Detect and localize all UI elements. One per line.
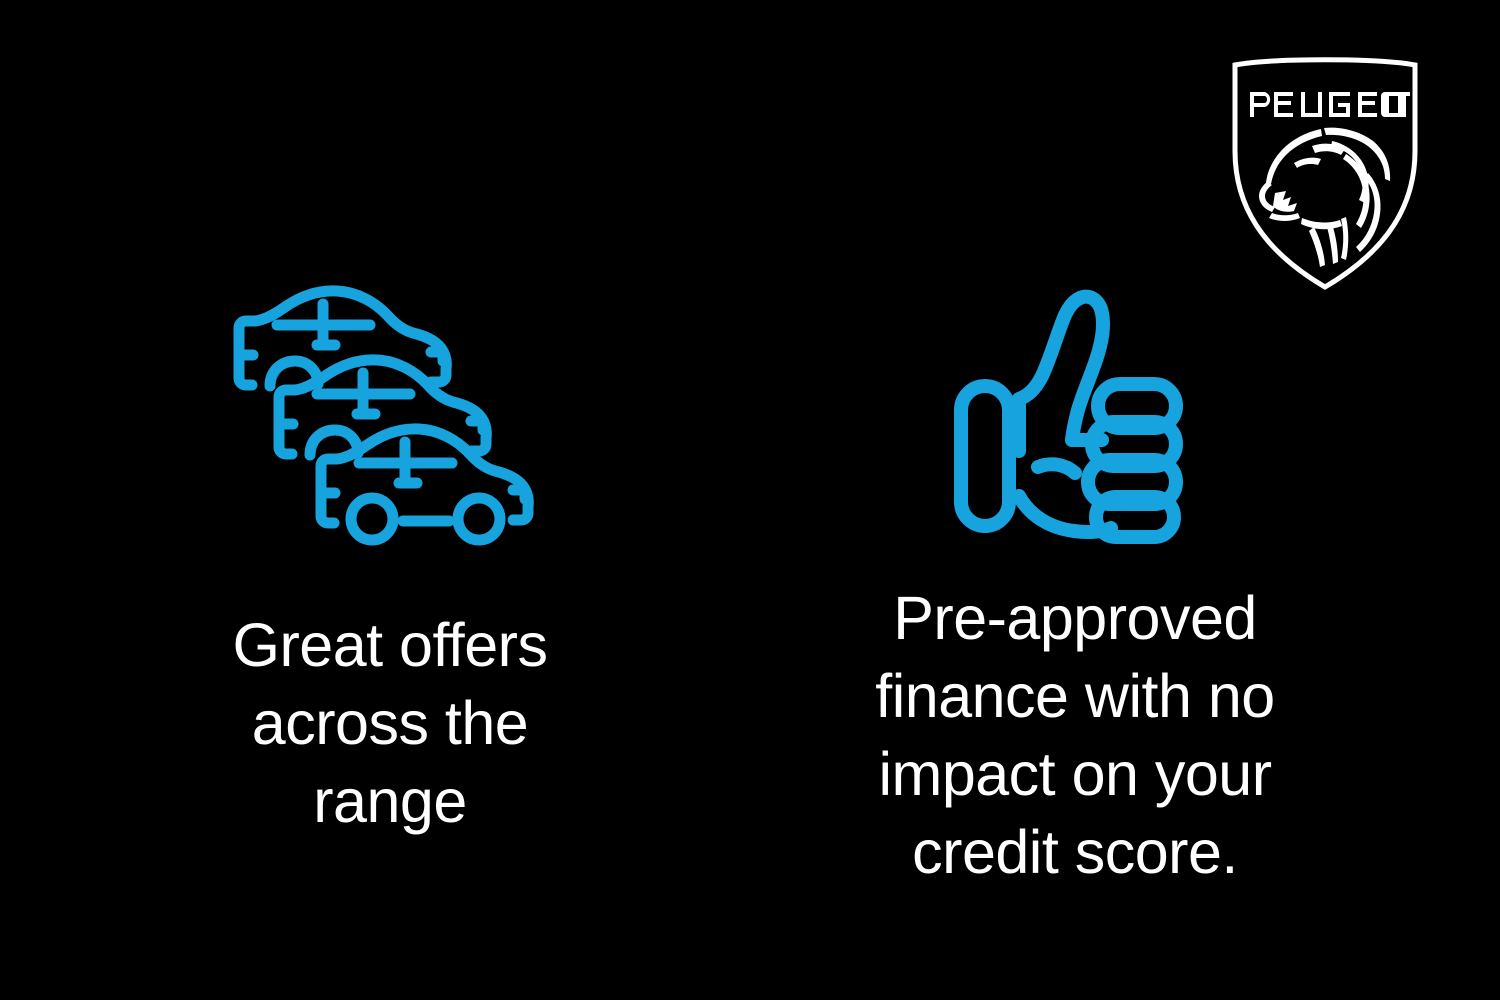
three-cars-icon: [225, 276, 555, 566]
feature-great-offers: Great offers across the range: [75, 276, 705, 840]
thumbs-up-icon: [950, 276, 1200, 551]
promo-banner: Great offers across the range: [0, 0, 1500, 1000]
feature-pre-approved-finance: Pre-approved finance with no impact on y…: [760, 276, 1390, 891]
feature-caption-great-offers: Great offers across the range: [233, 606, 548, 840]
feature-caption-pre-approved-finance: Pre-approved finance with no impact on y…: [875, 579, 1274, 891]
peugeot-shield-lion-icon: [1228, 55, 1422, 291]
